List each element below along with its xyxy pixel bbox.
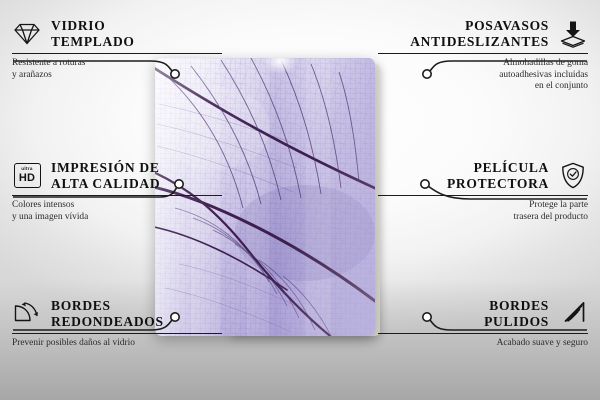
ultra-hd-badge-icon: ultra HD (12, 161, 42, 191)
feature-divider (378, 53, 588, 54)
feature-subtitle: Resistente a roturas y arañazos (12, 58, 222, 81)
feature-header: ultra HD IMPRESIÓN DE ALTA CALIDAD (12, 160, 222, 191)
feature-title: BORDES PULIDOS (484, 298, 549, 329)
rounded-corner-icon (12, 299, 42, 329)
feature-divider (12, 195, 222, 196)
feature-divider (12, 333, 222, 334)
feature-header: VIDRIO TEMPLADO (12, 18, 222, 49)
feature-subtitle: Protege la parte trasera del producto (378, 200, 588, 223)
feature-title: VIDRIO TEMPLADO (51, 18, 135, 49)
feature-subtitle: Colores intensos y una imagen vívida (12, 200, 222, 223)
feature-bordes-pulidos: BORDES PULIDOS Acabado suave y seguro (378, 298, 588, 350)
diamond-icon (12, 19, 42, 49)
hd-label: HD (19, 173, 35, 184)
feature-divider (12, 53, 222, 54)
feature-header: BORDES PULIDOS (378, 298, 588, 329)
feature-subtitle: Almohadillas de goma autoadhesivas inclu… (378, 58, 588, 93)
feature-title: POSAVASOS ANTIDESLIZANTES (410, 18, 549, 49)
feature-subtitle: Prevenir posibles daños al vidrio (12, 338, 222, 350)
feature-title: PELÍCULA PROTECTORA (447, 160, 549, 191)
feature-title: BORDES REDONDEADOS (51, 298, 164, 329)
feature-divider (378, 195, 588, 196)
shield-check-icon (558, 161, 588, 191)
feature-header: BORDES REDONDEADOS (12, 298, 222, 329)
feature-divider (378, 333, 588, 334)
infographic-canvas: VIDRIO TEMPLADO Resistente a roturas y a… (0, 0, 600, 400)
feature-vidrio-templado: VIDRIO TEMPLADO Resistente a roturas y a… (12, 18, 222, 81)
feature-impresion-alta-calidad: ultra HD IMPRESIÓN DE ALTA CALIDAD Color… (12, 160, 222, 223)
feature-subtitle: Acabado suave y seguro (378, 338, 588, 350)
diagonal-hatch-icon (558, 299, 588, 329)
press-down-pad-icon (558, 19, 588, 49)
feature-posavasos-antideslizantes: POSAVASOS ANTIDESLIZANTES Almohadillas d… (378, 18, 588, 93)
feature-bordes-redondeados: BORDES REDONDEADOS Prevenir posibles dañ… (12, 298, 222, 350)
feature-pelicula-protectora: PELÍCULA PROTECTORA Protege la parte tra… (378, 160, 588, 223)
feature-header: PELÍCULA PROTECTORA (378, 160, 588, 191)
feature-header: POSAVASOS ANTIDESLIZANTES (378, 18, 588, 49)
feature-title: IMPRESIÓN DE ALTA CALIDAD (51, 160, 160, 191)
